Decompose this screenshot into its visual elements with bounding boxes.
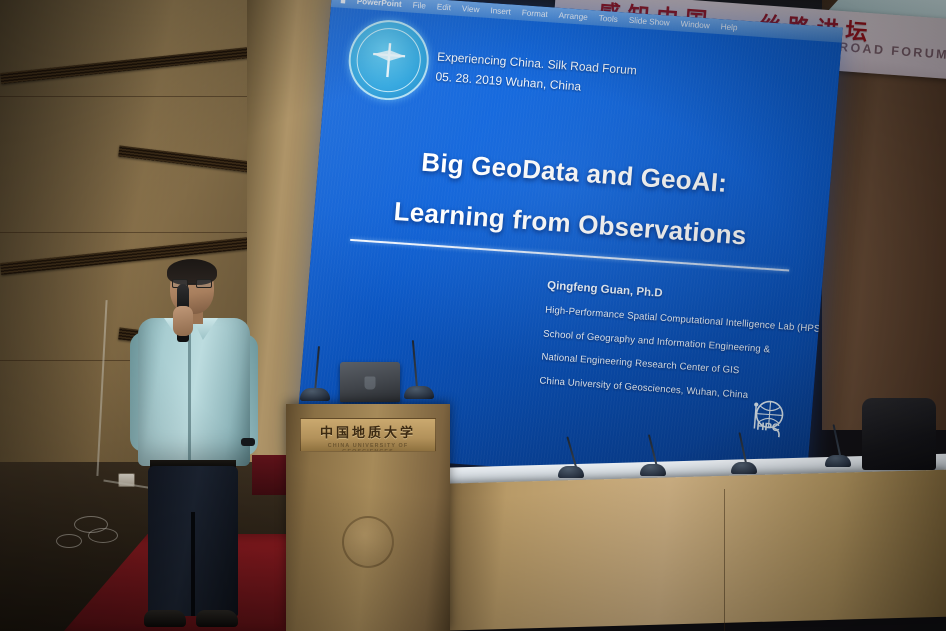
menu-item-format[interactable]: Format [521, 8, 548, 19]
lectern: 中国地质大学 CHINA UNIVERSITY OF GEOSCIENCES [286, 404, 450, 631]
geological-hammer-icon [366, 40, 411, 81]
speaker-shoe [196, 610, 238, 627]
conference-table-front [434, 470, 946, 631]
menu-item-slideshow[interactable]: Slide Show [628, 16, 670, 28]
cable-coil [56, 534, 82, 548]
table-panel-seam [724, 489, 725, 631]
lectern-english-text: CHINA UNIVERSITY OF GEOSCIENCES [301, 443, 435, 452]
presenter-laptop [340, 362, 400, 402]
menu-item-insert[interactable]: Insert [490, 6, 511, 16]
podium-microphone [404, 386, 434, 399]
university-seal-icon [346, 17, 432, 102]
menu-item-help[interactable]: Help [720, 22, 738, 32]
trouser-gap [191, 512, 195, 616]
menu-item-file[interactable]: File [412, 1, 426, 11]
table-microphone [731, 462, 757, 474]
svg-text:HPC: HPC [756, 421, 780, 435]
podium-microphone [300, 388, 330, 401]
cable-coil [88, 528, 118, 543]
speaker-person [128, 262, 260, 631]
menu-item-arrange[interactable]: Arrange [558, 11, 588, 22]
lectern-chinese-text: 中国地质大学 [301, 422, 435, 441]
slide-title: Big GeoData and GeoAI: Learning from Obs… [313, 130, 832, 267]
conference-photo: 感知中国 · 丝路讲坛 EXPERIENCING CHINA · SILK RO… [0, 0, 946, 631]
chair [862, 398, 936, 470]
hpscil-lab-logo-icon: HPC [742, 396, 791, 441]
menu-item-tools[interactable]: Tools [598, 14, 618, 24]
menu-item-window[interactable]: Window [680, 19, 710, 30]
shirt-placket [188, 324, 191, 464]
slide-event-header: Experiencing China. Silk Road Forum 05. … [435, 48, 638, 101]
slide-author-block: Qingfeng Guan, Ph.D High-Performance Spa… [538, 280, 841, 419]
lectern-emblem-icon [342, 516, 394, 568]
apple-menu-icon[interactable]: ■ [340, 0, 346, 5]
menubar-app-name[interactable]: PowerPoint [356, 0, 402, 9]
speaker-hand [173, 306, 193, 336]
menu-item-edit[interactable]: Edit [436, 2, 451, 12]
wristwatch [241, 438, 255, 446]
speaker-shirt [138, 318, 250, 466]
lectern-nameplate: 中国地质大学 CHINA UNIVERSITY OF GEOSCIENCES [300, 418, 436, 452]
menu-item-view[interactable]: View [462, 4, 480, 14]
table-microphone [558, 466, 584, 478]
speaker-shoe [144, 610, 186, 627]
table-microphone [825, 455, 851, 467]
table-microphone [640, 464, 666, 476]
